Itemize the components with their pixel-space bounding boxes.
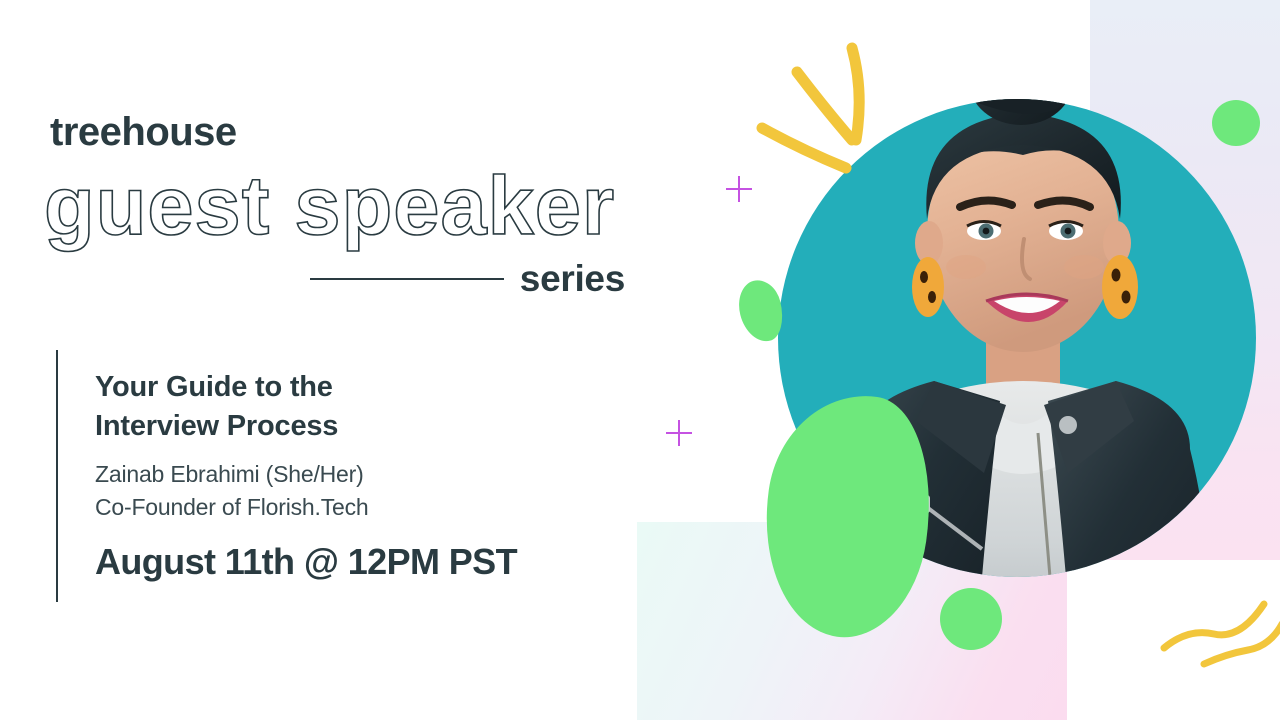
speaker-role: Co-Founder of Florish.Tech (95, 491, 517, 524)
poster-canvas: treehouse guest speaker series Your Guid… (0, 0, 1280, 720)
headline-outline: guest speaker (44, 158, 615, 254)
series-row: series (310, 258, 625, 300)
series-divider-rule (310, 278, 504, 280)
series-label: series (520, 258, 625, 300)
talk-title-line-1: Your Guide to the (95, 368, 517, 407)
green-blob-medium (940, 588, 1002, 650)
talk-title-line-2: Interview Process (95, 407, 517, 446)
event-date-time: August 11th @ 12PM PST (95, 541, 517, 583)
event-info-text: Your Guide to the Interview Process Zain… (58, 350, 517, 602)
talk-title: Your Guide to the Interview Process (95, 368, 517, 445)
brand-wordmark: treehouse (50, 110, 237, 155)
wavy-lines-icon (1160, 590, 1280, 670)
plus-mark-icon-lower (666, 420, 692, 446)
speaker-name: Zainab Ebrahimi (She/Her) (95, 458, 517, 491)
event-info-block: Your Guide to the Interview Process Zain… (56, 350, 616, 602)
sparkle-strokes-icon (740, 30, 920, 230)
